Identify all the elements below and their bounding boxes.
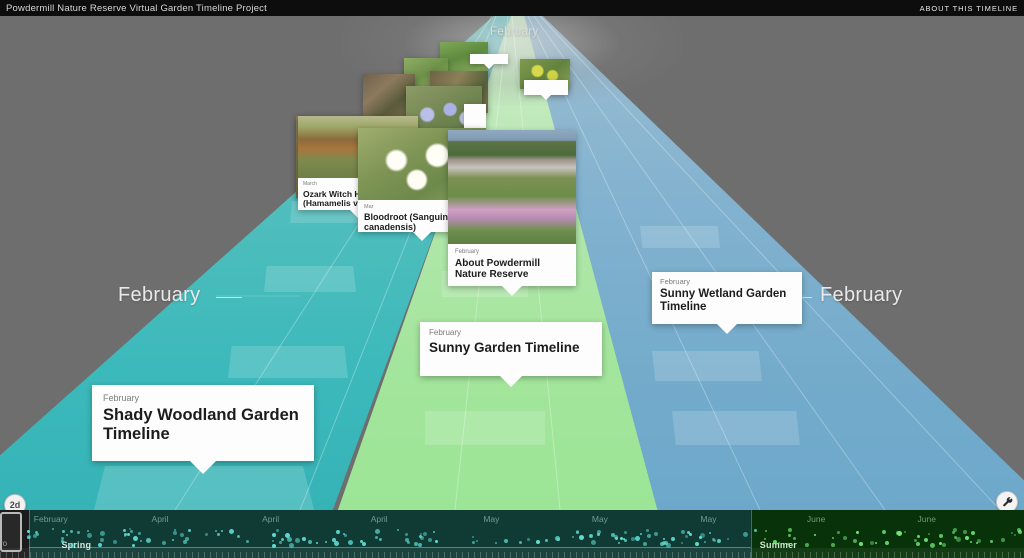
- navigator-tick: [690, 552, 691, 558]
- navigator-event-dot[interactable]: [640, 533, 642, 535]
- card-sunny-wetland-garden-timeline[interactable]: February Sunny Wetland Garden Timeline: [652, 272, 802, 324]
- month-tick-left: [216, 297, 242, 298]
- navigator-tick: [534, 552, 535, 558]
- navigator-event-dot[interactable]: [704, 541, 706, 543]
- navigator-tick: [42, 552, 43, 558]
- timeline-app: Powdermill Nature Reserve Virtual Garden…: [0, 0, 1024, 558]
- navigator-event-dot[interactable]: [837, 531, 840, 534]
- navigator-tick: [246, 552, 247, 558]
- navigator-tick: [726, 552, 727, 558]
- navigator-event-dot[interactable]: [814, 534, 816, 536]
- navigator-event-dot[interactable]: [70, 543, 75, 548]
- navigator-tick: [192, 552, 193, 558]
- navigator-event-dot[interactable]: [591, 540, 596, 545]
- navigator-tick: [150, 552, 151, 558]
- navigator-tick: [540, 552, 541, 558]
- navigator-event-dot[interactable]: [215, 530, 217, 532]
- navigator-event-dot[interactable]: [27, 535, 31, 539]
- navigator-tick: [450, 552, 451, 558]
- navigator-tick: [798, 552, 799, 558]
- card-shady-woodland-garden-timeline[interactable]: February Shady Woodland Garden Timeline: [92, 385, 314, 461]
- navigator-event-dot[interactable]: [272, 544, 276, 548]
- navigator-tick: [180, 552, 181, 558]
- navigator-tick: [876, 552, 877, 558]
- navigator-event-dot[interactable]: [180, 533, 184, 537]
- navigator-tick: [906, 552, 907, 558]
- navigator-tick: [522, 552, 523, 558]
- navigator-ruler[interactable]: [0, 548, 1024, 558]
- navigator-tick: [648, 552, 649, 558]
- navigator-tick: [630, 552, 631, 558]
- navigator-tick: [924, 552, 925, 558]
- navigator-event-dot[interactable]: [681, 542, 683, 544]
- navigator-tick: [372, 552, 373, 558]
- navigator-tick: [276, 552, 277, 558]
- navigator-tick: [666, 552, 667, 558]
- navigator-event-dot[interactable]: [717, 539, 721, 543]
- zoom-level-label: 2d: [10, 500, 21, 510]
- navigator-tick: [66, 552, 67, 558]
- card-pointer: [484, 64, 494, 69]
- wrench-glyph: [1001, 496, 1014, 509]
- navigator-tick: [0, 552, 1, 558]
- navigator-tick: [138, 552, 139, 558]
- navigator-event-dot[interactable]: [990, 540, 993, 543]
- navigator-tick: [678, 552, 679, 558]
- card-about-powdermill[interactable]: February About Powdermill Nature Reserve: [448, 130, 576, 286]
- navigator-event-dot[interactable]: [527, 538, 530, 541]
- card-date: February: [429, 329, 593, 338]
- navigator-event-dot[interactable]: [618, 542, 620, 544]
- navigator-tick: [996, 552, 997, 558]
- navigator-event-dot[interactable]: [140, 540, 142, 542]
- navigator-tick: [30, 552, 31, 558]
- navigator-event-dot[interactable]: [229, 529, 234, 534]
- navigator-tick: [426, 552, 427, 558]
- navigator-event-dot[interactable]: [162, 541, 166, 545]
- navigator-event-dot[interactable]: [930, 543, 935, 548]
- navigator-tick: [804, 552, 805, 558]
- navigator-tick: [60, 552, 61, 558]
- navigator-tick: [270, 552, 271, 558]
- navigator-tick: [636, 552, 637, 558]
- navigator-tick: [222, 552, 223, 558]
- month-label-center: February: [490, 26, 538, 38]
- navigator-tick: [12, 552, 13, 558]
- navigator-tick: [516, 552, 517, 558]
- navigator-tick: [264, 552, 265, 558]
- navigator-event-dot[interactable]: [375, 536, 378, 539]
- card-sunny-garden-timeline[interactable]: February Sunny Garden Timeline: [420, 322, 602, 376]
- navigator-tick: [768, 552, 769, 558]
- navigator-tick: [774, 552, 775, 558]
- navigator-tick: [708, 552, 709, 558]
- navigator-event-dot[interactable]: [615, 537, 618, 540]
- navigator-event-dot[interactable]: [334, 541, 339, 546]
- navigator-event-dot[interactable]: [27, 530, 30, 533]
- navigator-tick: [396, 552, 397, 558]
- navigator-tick: [462, 552, 463, 558]
- caption-text: [470, 54, 508, 62]
- navigator-tick: [732, 552, 733, 558]
- navigator-tick: [36, 552, 37, 558]
- navigator-tick: [216, 552, 217, 558]
- navigator-tick: [528, 552, 529, 558]
- navigator-tick: [144, 552, 145, 558]
- navigator-tick: [486, 552, 487, 558]
- navigator-tick: [594, 552, 595, 558]
- navigator-tick: [546, 552, 547, 558]
- navigator-tick: [108, 552, 109, 558]
- navigator-tick: [618, 552, 619, 558]
- navigator-tick: [840, 552, 841, 558]
- navigator-event-dot[interactable]: [348, 540, 353, 545]
- navigator-tick: [282, 552, 283, 558]
- navigator-tick: [972, 552, 973, 558]
- navigator-tick: [948, 552, 949, 558]
- navigator-month-label: February: [34, 514, 68, 524]
- thumbnail-caption-far[interactable]: [524, 80, 568, 95]
- navigator-tick: [696, 552, 697, 558]
- navigator-tick: [198, 552, 199, 558]
- navigator-tick: [204, 552, 205, 558]
- navigator-event-dot[interactable]: [971, 531, 975, 535]
- navigator-tick: [780, 552, 781, 558]
- navigator-tick: [882, 552, 883, 558]
- navigator-event-dot[interactable]: [917, 535, 920, 538]
- navigator-tick: [210, 552, 211, 558]
- navigator-tick: [120, 552, 121, 558]
- navigator-tick: [312, 552, 313, 558]
- navigator-tick: [432, 552, 433, 558]
- navigator-tick: [402, 552, 403, 558]
- navigator-tick: [366, 552, 367, 558]
- card-pointer: [541, 95, 551, 100]
- navigator-event-dot[interactable]: [843, 536, 847, 540]
- navigator-tick: [1014, 552, 1015, 558]
- navigator-event-dot[interactable]: [70, 530, 73, 533]
- navigator-event-dot[interactable]: [127, 533, 130, 536]
- navigator-tick: [498, 552, 499, 558]
- navigator-tick: [966, 552, 967, 558]
- card-title: Sunny Garden Timeline: [429, 340, 593, 356]
- navigator-tick: [738, 552, 739, 558]
- navigator-event-dot[interactable]: [98, 543, 102, 547]
- navigator-tick: [582, 552, 583, 558]
- navigator-tick: [84, 552, 85, 558]
- navigator-month-label: April: [371, 514, 388, 524]
- navigator-month-label: April: [262, 514, 279, 524]
- navigator-tick: [894, 552, 895, 558]
- navigator-event-dot[interactable]: [687, 531, 690, 534]
- navigator-tick: [330, 552, 331, 558]
- navigator-tick: [744, 552, 745, 558]
- navigator-event-dot[interactable]: [942, 543, 946, 547]
- navigator-event-dot[interactable]: [420, 536, 424, 540]
- navigator-tick: [606, 552, 607, 558]
- navigator-event-dot[interactable]: [61, 540, 64, 543]
- navigator-tick: [918, 552, 919, 558]
- navigator-tick: [720, 552, 721, 558]
- navigator-tick: [834, 552, 835, 558]
- navigator-event-dot[interactable]: [695, 542, 699, 546]
- navigator-tick: [252, 552, 253, 558]
- timeline-navigator[interactable]: ro Spring Summer February April April Ap…: [0, 510, 1024, 558]
- navigator-event-dot[interactable]: [123, 529, 126, 532]
- card-pointer: [717, 324, 737, 334]
- navigator-month-label: April: [152, 514, 169, 524]
- navigator-tick: [822, 552, 823, 558]
- month-label-right: February: [820, 284, 902, 307]
- navigator-tick: [858, 552, 859, 558]
- navigator-tick: [354, 552, 355, 558]
- navigator-tick: [816, 552, 817, 558]
- navigator-event-dot[interactable]: [1017, 528, 1021, 532]
- month-label-left: February: [118, 284, 200, 307]
- navigator-tick: [468, 552, 469, 558]
- navigator-tick: [390, 552, 391, 558]
- navigator-tick: [168, 552, 169, 558]
- navigator-month-label: June: [918, 514, 936, 524]
- navigator-tick: [714, 552, 715, 558]
- navigator-tick: [786, 552, 787, 558]
- navigator-tick: [174, 552, 175, 558]
- navigator-tick: [474, 552, 475, 558]
- caption-text: [464, 104, 486, 112]
- navigator-tick: [846, 552, 847, 558]
- navigator-tick: [438, 552, 439, 558]
- navigator-event-dot[interactable]: [217, 533, 220, 536]
- navigator-tick: [570, 552, 571, 558]
- navigator-tick: [492, 552, 493, 558]
- navigator-event-dot[interactable]: [1014, 534, 1016, 536]
- navigator-event-dot[interactable]: [504, 539, 508, 543]
- navigator-event-dot[interactable]: [472, 536, 474, 538]
- navigator-tick: [444, 552, 445, 558]
- navigator-event-dot[interactable]: [624, 531, 627, 534]
- navigator-tick: [672, 552, 673, 558]
- navigator-event-dot[interactable]: [805, 543, 809, 547]
- navigator-tick: [126, 552, 127, 558]
- navigator-tick: [612, 552, 613, 558]
- navigator-tick: [828, 552, 829, 558]
- card-date: February: [103, 394, 303, 404]
- caption-text: [524, 80, 568, 93]
- card-pointer: [502, 286, 522, 296]
- navigator-tick: [930, 552, 931, 558]
- navigator-tick: [324, 552, 325, 558]
- navigator-tick: [6, 552, 7, 558]
- navigator-event-dot[interactable]: [597, 530, 601, 534]
- navigator-tick: [420, 552, 421, 558]
- navigator-tick: [162, 552, 163, 558]
- navigator-tick: [360, 552, 361, 558]
- navigator-tick: [234, 552, 235, 558]
- navigator-month-label: May: [700, 514, 716, 524]
- navigator-tick: [102, 552, 103, 558]
- navigator-month-label: June: [807, 514, 825, 524]
- navigator-tick: [156, 552, 157, 558]
- navigator-tick: [1008, 552, 1009, 558]
- navigator-tick: [762, 552, 763, 558]
- navigator-event-dot[interactable]: [360, 540, 363, 543]
- navigator-event-dot[interactable]: [970, 541, 972, 543]
- navigator-tick: [912, 552, 913, 558]
- navigator-tick: [936, 552, 937, 558]
- navigator-event-dot[interactable]: [764, 538, 766, 540]
- navigator-event-dot[interactable]: [952, 531, 955, 534]
- page-title: Powdermill Nature Reserve Virtual Garden…: [6, 3, 267, 14]
- card-title: Sunny Wetland Garden Timeline: [660, 288, 794, 314]
- navigator-tick: [1002, 552, 1003, 558]
- navigator-tick: [750, 552, 751, 558]
- navigator-tick: [888, 552, 889, 558]
- navigator-tick: [600, 552, 601, 558]
- navigator-tick: [240, 552, 241, 558]
- navigator-viewport-handle[interactable]: [0, 512, 22, 552]
- navigator-event-dot[interactable]: [113, 540, 117, 544]
- card-pointer: [500, 376, 522, 387]
- navigator-tick: [24, 552, 25, 558]
- navigator-tick: [336, 552, 337, 558]
- navigator-event-dot[interactable]: [623, 538, 625, 540]
- navigator-tick: [96, 552, 97, 558]
- navigator-month-label: May: [483, 514, 499, 524]
- navigator-tick: [792, 552, 793, 558]
- navigator-event-dot[interactable]: [173, 531, 177, 535]
- navigator-event-dot[interactable]: [727, 538, 729, 540]
- navigator-tick: [660, 552, 661, 558]
- navigator-tick: [288, 552, 289, 558]
- navigator-tick: [186, 552, 187, 558]
- navigator-tick: [510, 552, 511, 558]
- navigator-tick: [48, 552, 49, 558]
- thumbnail-caption-far[interactable]: [470, 54, 508, 64]
- navigator-tick: [852, 552, 853, 558]
- navigator-tick: [960, 552, 961, 558]
- navigator-event-dot[interactable]: [414, 542, 418, 546]
- navigator-event-dot[interactable]: [285, 533, 290, 538]
- navigator-tick: [702, 552, 703, 558]
- navigator-event-dot[interactable]: [146, 538, 151, 543]
- navigator-event-dot[interactable]: [308, 540, 312, 544]
- navigator-tick: [378, 552, 379, 558]
- navigator-tick: [654, 552, 655, 558]
- navigator-tick: [480, 552, 481, 558]
- navigator-event-dot[interactable]: [685, 535, 688, 538]
- navigator-tick: [306, 552, 307, 558]
- navigator-tick: [408, 552, 409, 558]
- navigator-tick: [942, 552, 943, 558]
- navigator-event-dot[interactable]: [418, 543, 422, 547]
- navigator-tick: [72, 552, 73, 558]
- navigator-event-dot[interactable]: [662, 541, 666, 545]
- navigator-event-dot[interactable]: [914, 539, 917, 542]
- card-pointer: [413, 232, 431, 241]
- navigator-tick: [114, 552, 115, 558]
- navigator-event-dot[interactable]: [87, 530, 89, 532]
- card-pointer: [190, 461, 216, 474]
- card-date: February: [660, 278, 794, 286]
- navigator-tick: [642, 552, 643, 558]
- navigator-event-dot[interactable]: [870, 541, 874, 545]
- navigator-tick: [318, 552, 319, 558]
- navigator-tick: [990, 552, 991, 558]
- navigator-tick: [756, 552, 757, 558]
- navigator-tick: [90, 552, 91, 558]
- navigator-tick: [228, 552, 229, 558]
- reserve-photo: [448, 130, 576, 244]
- navigator-event-dot[interactable]: [1001, 538, 1005, 542]
- top-bar: Powdermill Nature Reserve Virtual Garden…: [0, 0, 1024, 16]
- navigator-tick: [132, 552, 133, 558]
- navigator-tick: [576, 552, 577, 558]
- navigator-tick: [984, 552, 985, 558]
- navigator-tick: [456, 552, 457, 558]
- navigator-month-label: May: [592, 514, 608, 524]
- navigator-tick: [414, 552, 415, 558]
- navigator-tick: [504, 552, 505, 558]
- navigator-tick: [258, 552, 259, 558]
- navigator-tick: [624, 552, 625, 558]
- navigator-event-dot[interactable]: [572, 536, 574, 538]
- navigator-tick: [294, 552, 295, 558]
- card-title: About Powdermill Nature Reserve: [455, 258, 569, 281]
- navigator-tick: [348, 552, 349, 558]
- about-this-timeline-link[interactable]: ABOUT THIS TIMELINE: [920, 4, 1018, 13]
- navigator-tick: [1020, 552, 1021, 558]
- navigator-tick: [588, 552, 589, 558]
- navigator-event-dot[interactable]: [557, 538, 560, 541]
- navigator-tick: [864, 552, 865, 558]
- navigator-tick: [810, 552, 811, 558]
- navigator-tick: [978, 552, 979, 558]
- card-date: February: [455, 249, 569, 256]
- navigator-tick: [564, 552, 565, 558]
- navigator-tick: [342, 552, 343, 558]
- navigator-event-dot[interactable]: [289, 543, 294, 548]
- navigator-tick: [300, 552, 301, 558]
- navigator-tick: [870, 552, 871, 558]
- timeline-stage[interactable]: February February February: [0, 16, 1024, 510]
- navigator-event-dot[interactable]: [519, 541, 522, 544]
- navigator-tick: [558, 552, 559, 558]
- navigator-event-dot[interactable]: [124, 535, 126, 537]
- navigator-event-dot[interactable]: [700, 533, 705, 538]
- navigator-tick: [54, 552, 55, 558]
- navigator-event-dot[interactable]: [939, 534, 943, 538]
- navigator-event-dot[interactable]: [375, 529, 380, 534]
- navigator-tick: [900, 552, 901, 558]
- navigator-tick: [684, 552, 685, 558]
- navigator-event-dot[interactable]: [793, 537, 796, 540]
- navigator-tick: [78, 552, 79, 558]
- navigator-tick: [18, 552, 19, 558]
- navigator-tick: [384, 552, 385, 558]
- card-title: Shady Woodland Garden Timeline: [103, 406, 303, 444]
- navigator-tick: [552, 552, 553, 558]
- thumbnail-caption-far[interactable]: [464, 104, 486, 128]
- navigator-tick: [954, 552, 955, 558]
- navigator-event-dot[interactable]: [174, 529, 176, 531]
